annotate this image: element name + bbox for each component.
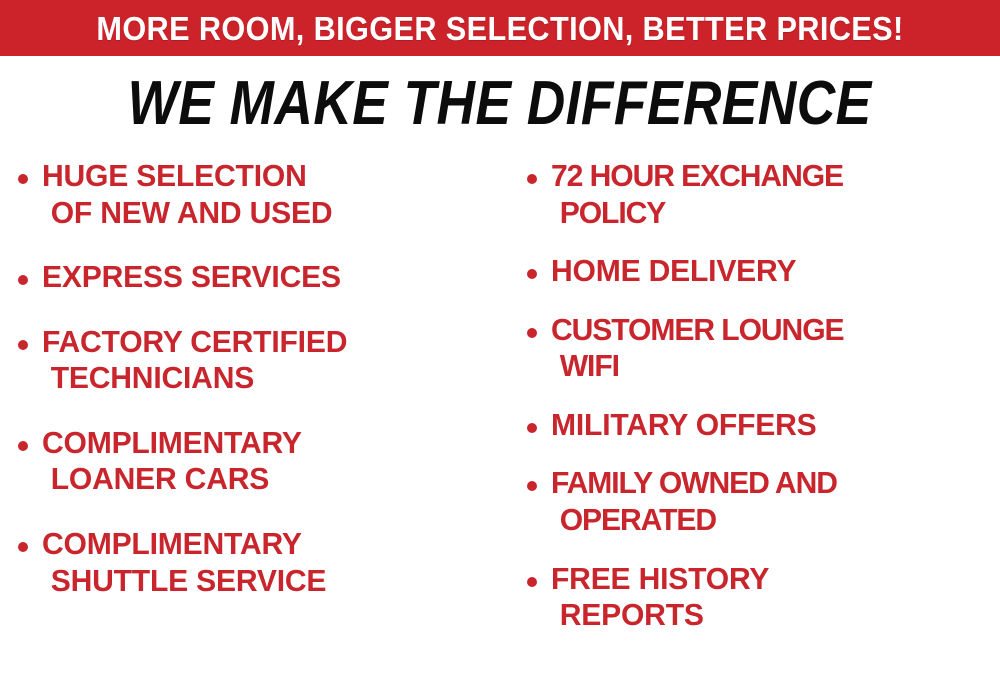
bullet-dot-icon: [527, 328, 537, 338]
features-column-right: 72 HOUR EXCHANGE POLICY HOME DELIVERY CU…: [505, 158, 1000, 634]
list-item-line2: LOANER CARS: [42, 461, 302, 498]
list-item-text: EXPRESS SERVICES: [42, 259, 341, 296]
list-item-line1: CUSTOMER LOUNGE: [551, 312, 844, 347]
list-item: 72 HOUR EXCHANGE POLICY: [527, 158, 996, 231]
list-item-text: HUGE SELECTION OF NEW AND USED: [42, 158, 332, 231]
page-title: WE MAKE THE DIFFERENCE: [128, 73, 872, 135]
list-item: MILITARY OFFERS: [527, 407, 996, 444]
list-item-line1: COMPLIMENTARY: [42, 526, 302, 561]
features-column-left: HUGE SELECTION OF NEW AND USED EXPRESS S…: [0, 158, 505, 599]
list-item: FREE HISTORY REPORTS: [527, 561, 996, 634]
list-item-line1: FACTORY CERTIFIED: [42, 324, 347, 359]
list-item-line1: HOME DELIVERY: [551, 253, 796, 288]
list-item-line1: 72 HOUR EXCHANGE: [551, 158, 843, 193]
bullet-dot-icon: [18, 174, 28, 184]
bullet-dot-icon: [18, 340, 28, 350]
bullet-dot-icon: [527, 577, 537, 587]
promotional-banner: MORE ROOM, BIGGER SELECTION, BETTER PRIC…: [0, 0, 1000, 694]
bullet-dot-icon: [527, 269, 537, 279]
bullet-dot-icon: [527, 481, 537, 491]
list-item-text: FAMILY OWNED AND OPERATED: [551, 465, 837, 538]
list-item: COMPLIMENTARY LOANER CARS: [18, 425, 499, 498]
list-item: HUGE SELECTION OF NEW AND USED: [18, 158, 499, 231]
list-item-line2: POLICY: [551, 195, 843, 232]
list-item: FAMILY OWNED AND OPERATED: [527, 465, 996, 538]
list-item-line1: FAMILY OWNED AND: [551, 465, 837, 500]
header-band: MORE ROOM, BIGGER SELECTION, BETTER PRIC…: [0, 0, 1000, 56]
list-item-text: FREE HISTORY REPORTS: [551, 561, 769, 634]
list-item: HOME DELIVERY: [527, 253, 996, 290]
list-item-line1: FREE HISTORY: [551, 561, 769, 596]
list-item-line2: SHUTTLE SERVICE: [42, 563, 326, 600]
list-item-line2: REPORTS: [551, 597, 769, 634]
list-item: CUSTOMER LOUNGE WIFI: [527, 312, 996, 385]
bullet-dot-icon: [527, 423, 537, 433]
list-item-text: COMPLIMENTARY LOANER CARS: [42, 425, 302, 498]
list-item: FACTORY CERTIFIED TECHNICIANS: [18, 324, 499, 397]
bullet-dot-icon: [18, 275, 28, 285]
bullet-dot-icon: [18, 441, 28, 451]
bullet-dot-icon: [18, 542, 28, 552]
list-item-line2: TECHNICIANS: [42, 360, 347, 397]
list-item: COMPLIMENTARY SHUTTLE SERVICE: [18, 526, 499, 599]
list-item: EXPRESS SERVICES: [18, 259, 499, 296]
list-item-line1: COMPLIMENTARY: [42, 425, 302, 460]
list-item-text: CUSTOMER LOUNGE WIFI: [551, 312, 844, 385]
features-columns: HUGE SELECTION OF NEW AND USED EXPRESS S…: [0, 148, 1000, 694]
list-item-text: HOME DELIVERY: [551, 253, 796, 290]
list-item-line1: HUGE SELECTION: [42, 158, 307, 193]
bullet-dot-icon: [527, 174, 537, 184]
list-item-line2: OF NEW AND USED: [42, 195, 332, 232]
header-tagline: MORE ROOM, BIGGER SELECTION, BETTER PRIC…: [96, 12, 903, 45]
list-item-line2: OPERATED: [551, 502, 837, 539]
list-item-line2: WIFI: [551, 348, 844, 385]
list-item-text: COMPLIMENTARY SHUTTLE SERVICE: [42, 526, 326, 599]
list-item-text: FACTORY CERTIFIED TECHNICIANS: [42, 324, 347, 397]
headline-container: WE MAKE THE DIFFERENCE: [0, 56, 1000, 148]
list-item-line1: MILITARY OFFERS: [551, 407, 816, 442]
list-item-text: MILITARY OFFERS: [551, 407, 816, 444]
list-item-text: 72 HOUR EXCHANGE POLICY: [551, 158, 843, 231]
list-item-line1: EXPRESS SERVICES: [42, 259, 341, 294]
